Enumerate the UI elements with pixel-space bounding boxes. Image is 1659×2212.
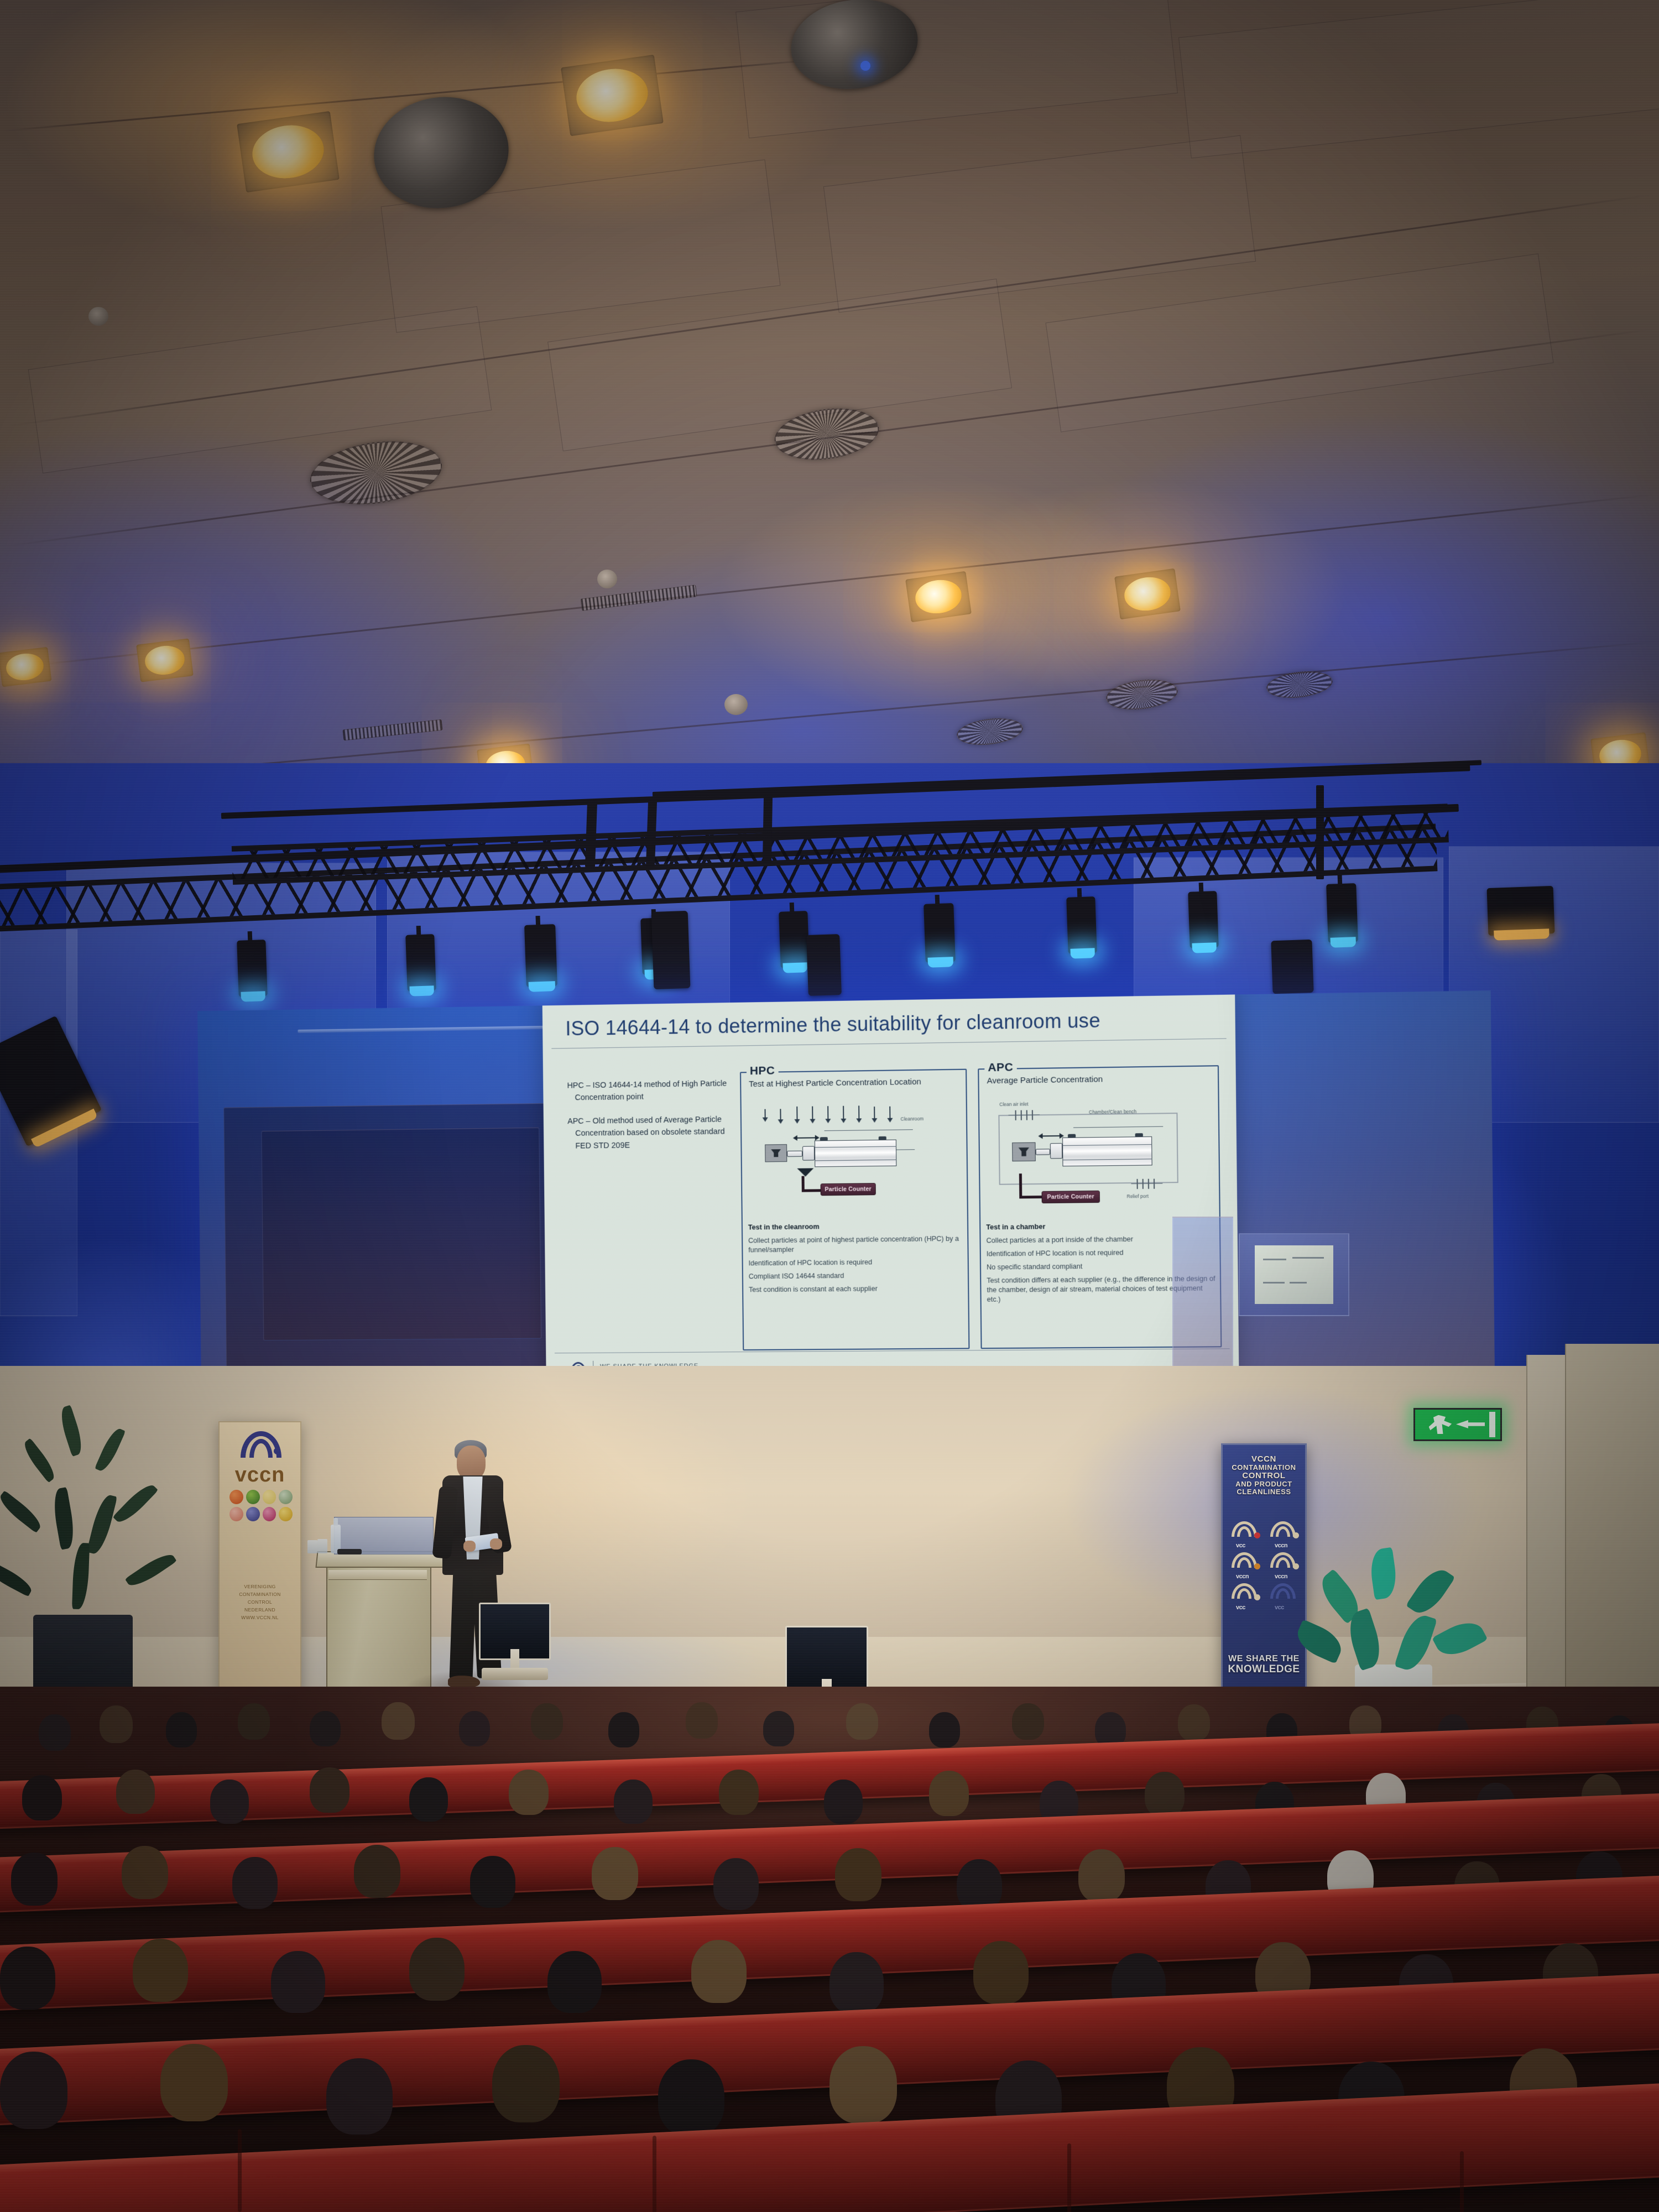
moving-head-light: [651, 911, 691, 989]
banner-tagline-line: WE SHARE THE: [1223, 1654, 1305, 1664]
particle-counter-badge: Particle Counter: [1042, 1191, 1100, 1203]
stage-light: [924, 903, 956, 963]
particle-counter-badge: Particle Counter: [821, 1183, 876, 1196]
stage-light: [405, 934, 436, 992]
audience-seating: [0, 1687, 1659, 2212]
banner-title-line: CONTROL: [1223, 1472, 1305, 1480]
list-item: Compliant ISO 14644 standard: [749, 1270, 963, 1281]
apc-legend: APC: [984, 1061, 1016, 1074]
label-cleanroom: Cleanroom: [900, 1116, 924, 1122]
seat-divider: [1067, 2143, 1071, 2212]
ceiling-vent-slot: [580, 585, 697, 611]
seat-divider: [653, 2136, 656, 2212]
equipment-body: [1062, 1136, 1152, 1166]
monitor-base: [482, 1668, 548, 1680]
stage-light: [779, 911, 810, 968]
banner-line: NEDERLAND: [220, 1606, 300, 1614]
vccn-logo: [241, 1431, 281, 1460]
stage-floor-monitor: [479, 1603, 551, 1680]
list-item: Identification of HPC location is requir…: [748, 1257, 963, 1268]
running-man-icon: [1429, 1415, 1454, 1434]
hpc-diagram: Cleanroom: [742, 1101, 969, 1214]
banner-line: CONTAMINATION: [220, 1590, 300, 1598]
ceiling-downlight: [1114, 568, 1181, 620]
seat-divider: [238, 2129, 242, 2212]
label-clean-air-inlet: Clean air inlet: [999, 1101, 1029, 1107]
stage-light: [1326, 883, 1358, 943]
vccn-logo: vccn: [1232, 1552, 1262, 1579]
travel-arrow: [1042, 1135, 1060, 1136]
vccn-logo: vcc: [1270, 1583, 1301, 1610]
ceiling-downlight: [237, 111, 340, 192]
banner-title-line: CLEANLINESS: [1223, 1488, 1305, 1496]
banner-line: CONTROL: [220, 1598, 300, 1606]
vccn-logo: vcc: [1232, 1583, 1262, 1610]
travel-arrow: [797, 1137, 816, 1138]
banner-tagline: WE SHARE THE KNOWLEDGE: [1223, 1654, 1305, 1675]
stage-door-frame: [1526, 1355, 1565, 1742]
right-rollup-banner: VCCN CONTAMINATION CONTROL AND PRODUCT C…: [1221, 1443, 1307, 1703]
vccn-logo: vccn: [1270, 1552, 1301, 1579]
ceiling-downlight: [0, 647, 51, 687]
sampler-head: [1012, 1142, 1036, 1162]
equipment-body: [815, 1140, 897, 1167]
hpc-subtitle: Test at Highest Particle Concentration L…: [749, 1077, 960, 1089]
presenter-hand: [490, 1538, 502, 1550]
plant-left: [17, 1399, 149, 1714]
list-item: Test in the cleanroom: [748, 1221, 963, 1233]
sampler-head: [765, 1144, 787, 1162]
ceiling-air-vent: [1265, 668, 1334, 701]
presenter-shoe: [448, 1676, 480, 1688]
slide-definitions: HPC – ISO 14644-14 method of High Partic…: [567, 1078, 732, 1164]
ceiling-downlight: [136, 638, 194, 682]
ceiling-downlight: [905, 571, 972, 623]
banner-wordmark: vccn: [220, 1463, 300, 1487]
stage-light: [1188, 891, 1219, 948]
stage-light: [1066, 896, 1097, 954]
vccn-colour-dots: [229, 1490, 293, 1521]
ceiling-air-vent: [306, 434, 446, 512]
ceiling-vent-slot: [342, 719, 442, 741]
presentation-slide: ISO 14644-14 to determine the suitabilit…: [542, 990, 1239, 1382]
drinking-glass: [317, 1539, 327, 1553]
vccn-logo: vccn: [1270, 1521, 1301, 1548]
seat-divider: [1460, 2151, 1464, 2212]
drinking-glass: [307, 1540, 317, 1553]
projection-screen: ISO 14644-14 to determine the suitabilit…: [197, 990, 1495, 1413]
banner-line: VERENIGING: [220, 1583, 300, 1590]
stage-light: [1487, 886, 1555, 936]
banner-title: VCCN CONTAMINATION CONTROL AND PRODUCT C…: [1223, 1455, 1305, 1496]
apc-diagram: Clean air inlet Chamber/Clean bench: [979, 1093, 1222, 1216]
label-relief-port: Relief port: [1126, 1193, 1148, 1199]
banner-logo-grid: vcc vccn vccn vccn vcc vcc: [1232, 1521, 1300, 1610]
funnel-sampler: [797, 1168, 813, 1176]
ceiling: [0, 0, 1659, 841]
secondary-display: [1239, 1233, 1349, 1316]
banner-title-line: VCCN: [1223, 1455, 1305, 1464]
hpc-legend: HPC: [747, 1064, 779, 1078]
secondary-display: [1172, 1217, 1233, 1388]
vccn-logo: vcc: [1232, 1521, 1262, 1548]
moving-head-light: [806, 934, 842, 996]
moving-head-light: [1271, 940, 1313, 994]
sign-bar: [1489, 1412, 1495, 1437]
smoke-detector: [88, 307, 108, 326]
status-led: [860, 61, 870, 71]
slide-title: ISO 14644-14 to determine the suitabilit…: [565, 1007, 1218, 1040]
list-item: Test condition is constant at each suppl…: [749, 1284, 963, 1295]
presenter-hand: [463, 1541, 476, 1552]
smoke-detector: [724, 694, 748, 715]
apc-subtitle: Average Particle Concentration: [987, 1073, 1212, 1087]
ceiling-air-vent: [1104, 676, 1179, 713]
banner-footer-lines: VERENIGING CONTAMINATION CONTROL NEDERLA…: [220, 1583, 300, 1621]
definition-apc: APC – Old method used of Average Particl…: [567, 1113, 732, 1152]
banner-line: WWW.VCCN.NL: [220, 1614, 300, 1621]
definition-hpc: HPC – ISO 14644-14 method of High Partic…: [567, 1078, 731, 1105]
banner-title-line: AND PRODUCT: [1223, 1480, 1305, 1488]
list-item: Collect particles at point of highest pa…: [748, 1234, 963, 1255]
hpc-bullet-list: Test in the cleanroom Collect particles …: [748, 1221, 964, 1299]
smoke-detector: [597, 570, 617, 588]
left-arrow-icon: [1456, 1420, 1485, 1428]
banner-title-line: CONTAMINATION: [1223, 1464, 1305, 1472]
presenter-head: [457, 1446, 486, 1480]
left-rollup-banner: vccn VERENIGING CONTAMINATION CONTROL NE…: [218, 1421, 301, 1692]
stage-light: [524, 924, 557, 987]
auditorium-photo: ISO 14644-14 to determine the suitabilit…: [0, 0, 1659, 2212]
display-content: [1255, 1245, 1333, 1303]
ceiling-downlight: [561, 55, 664, 136]
banner-tagline-line: KNOWLEDGE: [1223, 1664, 1305, 1676]
hpc-panel: HPC Test at Highest Particle Concentrati…: [740, 1069, 969, 1350]
emergency-exit-sign: [1413, 1408, 1502, 1441]
stage-light: [237, 940, 268, 997]
ceiling-air-vent: [956, 715, 1025, 748]
